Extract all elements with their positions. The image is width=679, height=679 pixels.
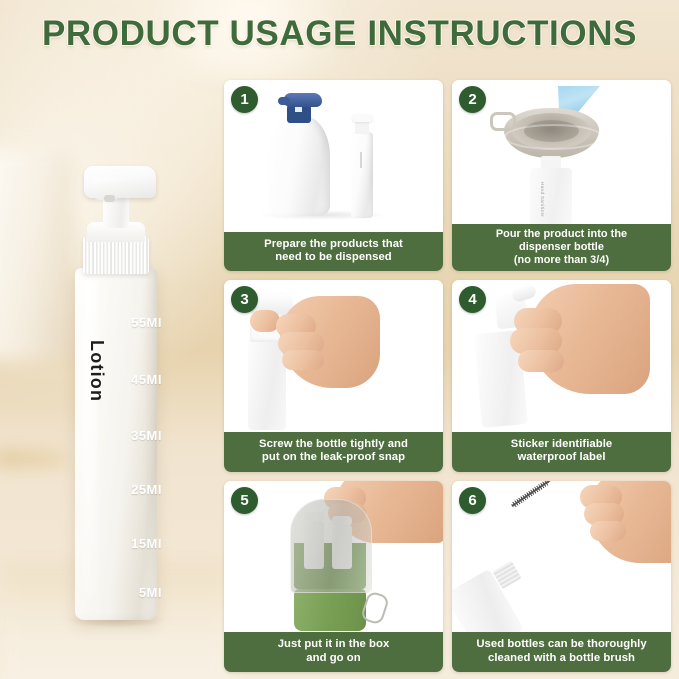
- large-dispenser-bottle: [268, 116, 330, 216]
- hero-bottle-label-text: Lotion: [86, 340, 107, 402]
- finger-ring: [518, 350, 564, 372]
- funnel-hanging-loop: [490, 112, 516, 131]
- background-blurred-stick: [0, 452, 68, 465]
- travel-case-clear-lid: [290, 499, 372, 593]
- graduation-mark-55: 55MI: [131, 315, 162, 330]
- step-number-badge-1: 1: [231, 86, 258, 113]
- caption-line: Used bottles can be thoroughly: [456, 638, 667, 651]
- step-caption-4: Sticker identifiable waterproof label: [452, 432, 671, 472]
- step-panel-1[interactable]: 1 Prepare the products that need to be d…: [224, 80, 443, 271]
- steps-grid: 1 Prepare the products that need to be d…: [224, 80, 671, 672]
- hero-product-bottle: Lotion 55MI 45MI 35MI 25MI 15MI 5MI: [62, 160, 170, 622]
- caption-line: Pour the product into the: [456, 228, 667, 241]
- caption-line: waterproof label: [456, 451, 667, 464]
- hero-nozzle-opening: [104, 195, 115, 202]
- step-caption-1: Prepare the products that need to be dis…: [224, 232, 443, 272]
- infographic-page: PRODUCT USAGE INSTRUCTIONS Lotion 55MI 4…: [0, 0, 679, 679]
- large-bottle-pump-nozzle: [278, 97, 290, 105]
- graduation-mark-5: 5MI: [139, 585, 162, 600]
- step-number-badge-2: 2: [459, 86, 486, 113]
- finger-ring: [590, 521, 626, 541]
- step-panel-4[interactable]: 4 Essence Sticker identifiable waterproo…: [452, 280, 671, 471]
- graduation-mark-25: 25MI: [131, 482, 162, 497]
- caption-line: cleaned with a bottle brush: [456, 652, 667, 665]
- graduation-mark-35: 35MI: [131, 428, 162, 443]
- step-panel-2[interactable]: 2 Hand Sanitizer Pour the product into t…: [452, 80, 671, 271]
- hero-bottle-highlight: [82, 278, 97, 598]
- hero-pump-head: [84, 166, 156, 198]
- caption-line: dispenser bottle: [456, 241, 667, 254]
- page-title: PRODUCT USAGE INSTRUCTIONS: [0, 14, 679, 54]
- graduation-mark-45: 45MI: [131, 372, 162, 387]
- caption-line: put on the leak-proof snap: [228, 451, 439, 464]
- travel-case-base: [294, 589, 366, 631]
- caption-line: Just put it in the box: [228, 638, 439, 651]
- caption-line: Prepare the products that: [228, 238, 439, 251]
- step-panel-5[interactable]: 5 Just put it in the box and go on: [224, 481, 443, 672]
- step-caption-5: Just put it in the box and go on: [224, 632, 443, 672]
- step-panel-6[interactable]: 6 Used bottles can be thoroughly cleaned…: [452, 481, 671, 672]
- travel-bottle-body: [248, 338, 286, 430]
- step-number-badge-6: 6: [459, 487, 486, 514]
- step-number-badge-5: 5: [231, 487, 258, 514]
- hero-pump-nozzle: [92, 178, 118, 200]
- small-travel-bottle: [351, 132, 373, 218]
- step-caption-3: Screw the bottle tightly and put on the …: [224, 432, 443, 472]
- finger-ring: [282, 350, 324, 370]
- caption-line: (no more than 3/4): [456, 254, 667, 267]
- small-bottle-tube: [360, 152, 362, 168]
- small-bottle-pump-head: [352, 114, 373, 122]
- bottle-brush-bristles: [510, 481, 550, 508]
- graduation-mark-15: 15MI: [131, 536, 162, 551]
- small-bottle-collar: [355, 121, 369, 134]
- dispenser-bottle: [530, 168, 572, 224]
- caption-line: Screw the bottle tightly and: [228, 438, 439, 451]
- step-caption-2: Pour the product into the dispenser bott…: [452, 224, 671, 271]
- funnel-fold-ring: [504, 124, 603, 150]
- dispenser-bottle-label: Hand Sanitizer: [540, 182, 545, 217]
- caption-line: need to be dispensed: [228, 251, 439, 264]
- step-caption-6: Used bottles can be thoroughly cleaned w…: [452, 632, 671, 672]
- step-panel-3[interactable]: 3 Screw the bottle tightly and put on th…: [224, 280, 443, 471]
- caption-line: and go on: [228, 652, 439, 665]
- caption-line: Sticker identifiable: [456, 438, 667, 451]
